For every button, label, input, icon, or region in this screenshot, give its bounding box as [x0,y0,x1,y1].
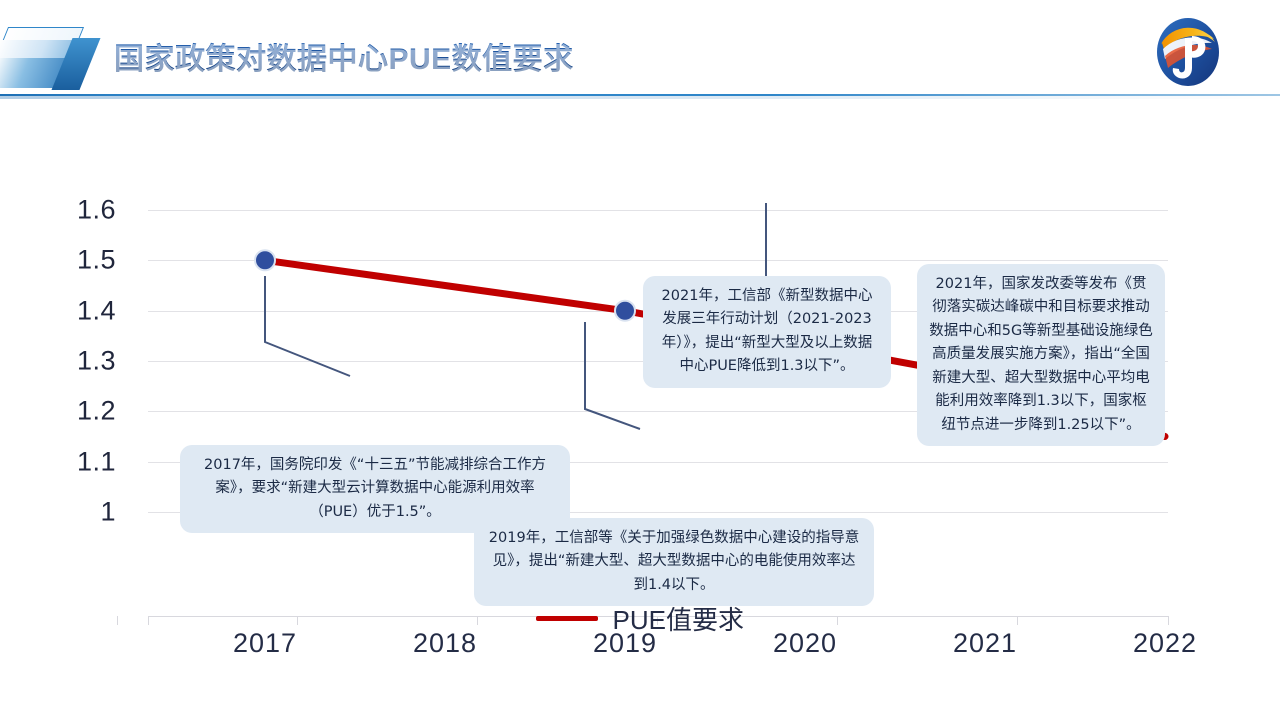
annotation-policy-2019: 2019年，工信部等《关于加强绿色数据中心建设的指导意见》，提出“新建大型、超大… [474,518,874,606]
data-point-marker [255,250,275,270]
header-divider-shadow [0,96,1280,99]
company-logo [1152,16,1224,88]
annotation-policy-2021-miit: 2021年，工信部《新型数据中心发展三年行动计划（2021-2023年）》，提出… [643,276,891,388]
page-title: 国家政策对数据中心PUE数值要求 [114,34,574,78]
chart-legend: PUE值要求 [0,600,1280,637]
legend-label-pue: PUE值要求 [612,600,743,637]
pue-line-chart: 1.61.51.41.31.21.11 20172018201920202021… [0,104,1280,720]
page-header: 国家政策对数据中心PUE数值要求 [0,0,1280,100]
annotation-policy-2021-ndrc: 2021年，国家发改委等发布《贯彻落实碳达峰碳中和目标要求推动数据中心和5G等新… [917,264,1165,446]
data-point-marker [615,301,635,321]
legend-swatch-pue [536,616,598,621]
